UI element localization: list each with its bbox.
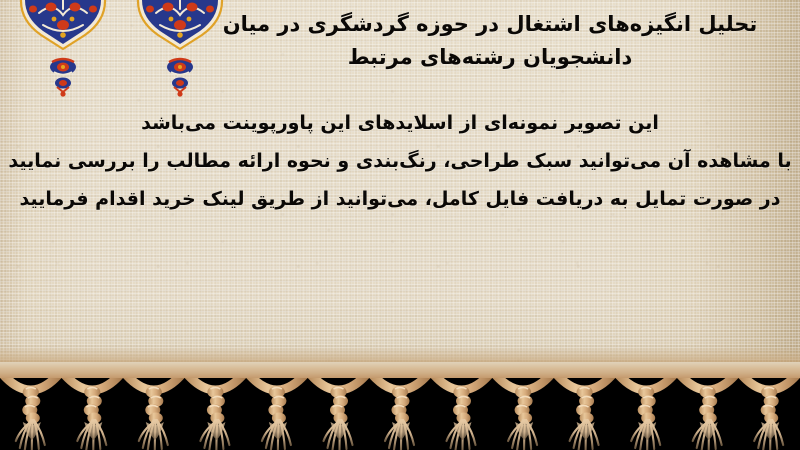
fringe-tassel (616, 372, 676, 450)
fringe-tassel (370, 372, 430, 450)
fringe-tassel (555, 372, 615, 450)
carpet-fringe (0, 362, 800, 450)
slide-body: این تصویر نمونه‌ای از اسلایدهای این پاور… (0, 104, 800, 218)
fringe-tassel (739, 372, 799, 450)
fringe-tassel (493, 372, 553, 450)
fringe-selvedge-band (0, 362, 800, 378)
fringe-tassel (185, 372, 245, 450)
slide-title-line-2: دانشجویان رشته‌های مرتبط (210, 41, 770, 74)
fringe-tassel (678, 372, 738, 450)
slide-text-layer: تحلیل انگیزه‌های اشتغال در حوزه گردشگری … (0, 0, 800, 372)
slide-canvas: تحلیل انگیزه‌های اشتغال در حوزه گردشگری … (0, 0, 800, 450)
slide-title: تحلیل انگیزه‌های اشتغال در حوزه گردشگری … (210, 8, 770, 74)
slide-body-line-3: در صورت تمایل به دریافت فایل کامل، می‌تو… (0, 180, 800, 218)
slide-body-line-2: با مشاهده آن می‌توانید سبک طراحی، رنگ‌بن… (0, 142, 800, 180)
slide-title-line-1: تحلیل انگیزه‌های اشتغال در حوزه گردشگری … (210, 8, 770, 41)
slide-body-line-1: این تصویر نمونه‌ای از اسلایدهای این پاور… (0, 104, 800, 142)
fringe-tassel (1, 372, 61, 450)
fringe-tassel (247, 372, 307, 450)
fringe-tassel (309, 372, 369, 450)
fringe-tassel (432, 372, 492, 450)
fringe-tassel (124, 372, 184, 450)
fringe-tassel (62, 372, 122, 450)
